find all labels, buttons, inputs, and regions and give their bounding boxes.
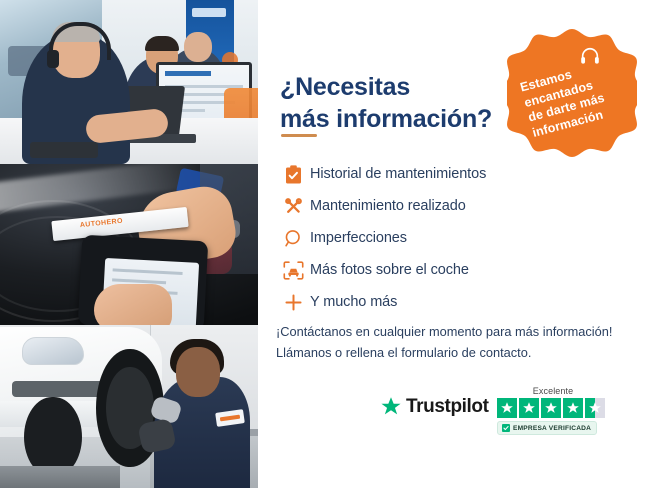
verified-company-label: EMPRESA VERIFICADA	[513, 425, 591, 432]
list-item-label: Imperfecciones	[310, 230, 407, 246]
rear-wheel	[24, 397, 82, 477]
second-agent-hair	[145, 36, 179, 51]
list-item-label: Mantenimiento realizado	[310, 198, 466, 214]
list-item: Más fotos sobre el coche	[276, 254, 626, 286]
list-item: Imperfecciones	[276, 222, 626, 254]
inspector-hand-lower	[94, 284, 172, 325]
rating-star-2	[519, 398, 539, 418]
trustpilot-star-icon	[380, 396, 402, 418]
trustpilot-rating: Excelente	[497, 386, 609, 436]
list-item: Mantenimiento realizado	[276, 190, 626, 222]
background-colleague-head	[184, 32, 212, 62]
rating-star-3	[541, 398, 561, 418]
content-panel: ¿Necesitas más información? Estamos enca…	[258, 0, 650, 488]
verified-check-icon	[502, 424, 510, 432]
page-title: ¿Necesitas más información?	[280, 71, 510, 135]
desk-tablet	[30, 142, 98, 158]
list-item-label: Historial de mantenimientos	[310, 166, 486, 182]
verified-company-badge: EMPRESA VERIFICADA	[497, 421, 597, 435]
page-title-line-2: más información?	[280, 105, 492, 133]
title-underline-rule	[281, 134, 317, 137]
call-center-agents-photo	[0, 0, 258, 164]
trustpilot-wordmark: Trustpilot	[406, 396, 489, 418]
trustpilot-star-row	[497, 398, 609, 418]
car-headlight	[22, 337, 84, 365]
page-title-line-1: ¿Necesitas	[280, 73, 410, 101]
feature-list: Historial de mantenimientos Mantenimient…	[276, 158, 626, 318]
contact-paragraph-line-2: Llámanos o rellena el formulario de cont…	[276, 343, 642, 364]
ruler-brand: AUTOHERO	[80, 218, 124, 229]
clipboard-check-icon	[276, 165, 310, 184]
trustpilot-logo[interactable]: Trustpilot	[380, 396, 489, 418]
rating-star-4	[563, 398, 583, 418]
car-lift-ramp	[0, 466, 120, 488]
plus-icon	[276, 293, 310, 312]
contact-paragraph-line-1: ¡Contáctanos en cualquier momento para m…	[276, 322, 642, 343]
tablet-row	[113, 268, 183, 275]
contact-paragraph: ¡Contáctanos en cualquier momento para m…	[276, 322, 642, 363]
support-badge: Estamos encantados de darte más informac…	[507, 27, 637, 157]
technician-wheel-photo	[0, 325, 258, 488]
technician-head	[176, 347, 220, 397]
trustpilot-rating-label: Excelente	[497, 386, 609, 396]
list-item: Historial de mantenimientos	[276, 158, 626, 190]
information-promo-card: AUTOHERO	[0, 0, 650, 488]
list-item-label: Más fotos sobre el coche	[310, 262, 469, 278]
list-item-label: Y mucho más	[310, 294, 397, 310]
rating-star-5-half	[585, 398, 605, 418]
ruler-brand-right: HERO	[101, 218, 123, 227]
rating-star-1	[497, 398, 517, 418]
trustpilot-widget[interactable]: Trustpilot Excelente	[380, 386, 632, 446]
car-focus-frame-icon	[276, 261, 310, 280]
car-inspection-ruler-photo: AUTOHERO	[0, 164, 258, 325]
ruler-brand-left: AUTO	[80, 220, 102, 229]
screen-header-bar	[165, 71, 211, 76]
magnifier-icon	[276, 229, 310, 248]
photo-collage: AUTOHERO	[0, 0, 258, 488]
wrench-screwdriver-icon	[276, 197, 310, 216]
list-item: Y mucho más	[276, 286, 626, 318]
